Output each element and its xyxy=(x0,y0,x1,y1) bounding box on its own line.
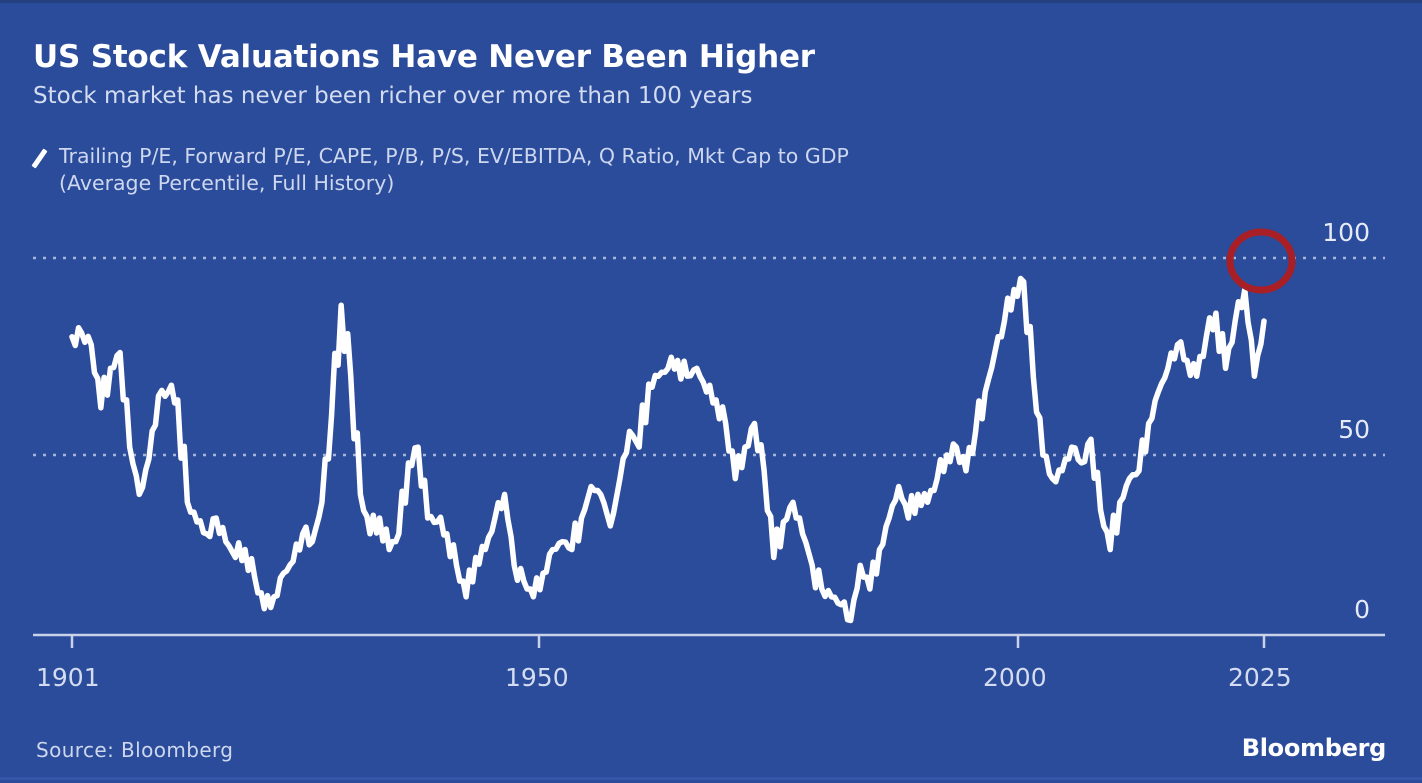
page-subtitle: Stock market has never been richer over … xyxy=(33,83,752,109)
brand-logo: Bloomberg xyxy=(1242,734,1386,762)
diagonal-line-icon xyxy=(33,147,59,169)
source-label: Source: Bloomberg xyxy=(36,738,233,762)
legend-label-line2: (Average Percentile, Full History) xyxy=(59,170,849,197)
x-axis-tick-1901: 1901 xyxy=(36,663,100,692)
y-axis-tick-50: 50 xyxy=(1300,415,1370,444)
gridlines xyxy=(33,258,1385,455)
legend-label: Trailing P/E, Forward P/E, CAPE, P/B, P/… xyxy=(59,143,849,197)
page-title: US Stock Valuations Have Never Been High… xyxy=(33,39,815,75)
x-axis-tick-2025: 2025 xyxy=(1228,663,1292,692)
chart-legend: Trailing P/E, Forward P/E, CAPE, P/B, P/… xyxy=(33,143,1373,197)
highlight-circle-icon xyxy=(1230,232,1292,290)
chart-plot xyxy=(0,3,1422,783)
y-axis-tick-100: 100 xyxy=(1300,218,1370,247)
data-series-line xyxy=(72,278,1264,620)
legend-label-line1: Trailing P/E, Forward P/E, CAPE, P/B, P/… xyxy=(59,144,849,168)
x-axis-tick-1950: 1950 xyxy=(505,663,569,692)
y-axis-tick-0: 0 xyxy=(1300,595,1370,624)
x-axis-line xyxy=(33,635,1385,648)
chart-card: US Stock Valuations Have Never Been High… xyxy=(0,0,1422,780)
x-axis-tick-2000: 2000 xyxy=(983,663,1047,692)
